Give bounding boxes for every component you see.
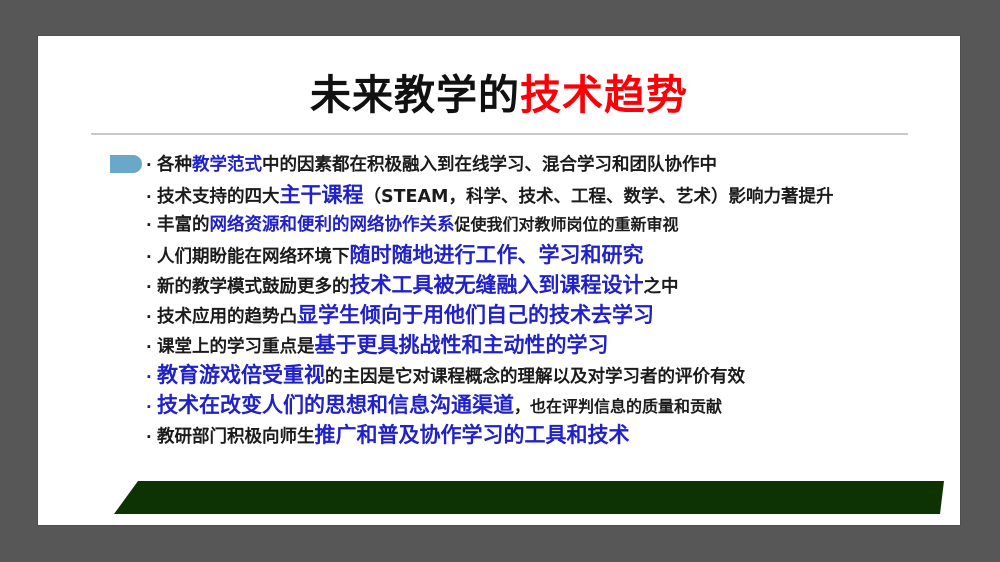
bullet-text-segment: 技术应用的趋势凸	[157, 307, 297, 327]
bullet-text-segment: 促使我们对教师岗位的重新审视	[455, 215, 679, 234]
bullet-dot-icon: ·	[146, 150, 157, 180]
bullet-text-segment: （STEAM，科学、技术、工程、数学、艺术）影响力著提升	[364, 187, 834, 207]
bullet-text-segment: 丰富的	[157, 215, 210, 235]
bullet-text-segment: 基于更具挑战性和主动性的学习	[315, 333, 609, 357]
bullet-dot-icon: ·	[146, 242, 157, 272]
bullet-text-segment: 新的教学模式鼓励更多的	[157, 277, 350, 297]
bullet-dot-icon: ·	[146, 362, 157, 392]
bullet-dot-icon: ·	[146, 210, 157, 240]
bullet-item: ·技术应用的趋势凸显学生倾向于用他们自己的技术去学习	[146, 300, 936, 330]
bullet-text-segment: 技术工具被无缝融入到课程设计	[350, 273, 644, 297]
bullet-text-segment: 教学范式	[192, 155, 262, 175]
bullet-item: ·教研部门积极向师生推广和普及协作学习的工具和技术	[146, 420, 936, 450]
bullet-text-segment: 网络资源和便利的网络协作关系	[210, 215, 455, 235]
bullet-dot-icon: ·	[146, 302, 157, 332]
bullet-text-segment: 显学生倾向于用他们自己的技术去学习	[297, 303, 654, 327]
bullet-text-segment: 之中	[644, 277, 679, 297]
bullet-item: ·人们期盼能在网络环境下随时随地进行工作、学习和研究	[146, 240, 936, 270]
title-dark-part: 未来教学的	[310, 71, 520, 119]
slide-title: 未来教学的技术趋势	[38, 74, 960, 117]
blue-flag-marker-icon	[110, 155, 142, 173]
bullet-text-segment: 推广和普及协作学习的工具和技术	[315, 423, 630, 447]
bullet-item: ·技术在改变人们的思想和信息沟通渠道，也在评判信息的质量和贡献	[146, 390, 936, 420]
bullet-text-segment: 技术支持的四大	[157, 187, 280, 207]
bullet-dot-icon: ·	[146, 422, 157, 452]
bullet-item: ·丰富的网络资源和便利的网络协作关系促使我们对教师岗位的重新审视	[146, 210, 936, 240]
title-divider	[91, 133, 908, 135]
bullet-text-segment: 中的因素都在积极融入到在线学习、混合学习和团队协作中	[262, 155, 717, 175]
bullet-text-segment: ，也在评判信息的质量和贡献	[514, 397, 722, 416]
bullet-text-segment: 随时随地进行工作、学习和研究	[350, 243, 644, 267]
title-accent-part: 技术趋势	[520, 71, 688, 119]
slide-viewer: 未来教学的技术趋势 ·各种教学范式中的因素都在积极融入到在线学习、混合学习和团队…	[0, 0, 1000, 562]
bullet-list: ·各种教学范式中的因素都在积极融入到在线学习、混合学习和团队协作中·技术支持的四…	[146, 150, 936, 450]
bullet-text-segment: 人们期盼能在网络环境下	[157, 247, 350, 267]
bullet-dot-icon: ·	[146, 272, 157, 302]
bullet-item: ·技术支持的四大主干课程（STEAM，科学、技术、工程、数学、艺术）影响力著提升	[146, 180, 936, 210]
bullet-text-segment: 教育游戏倍受重视	[157, 363, 325, 387]
bullet-item: ·教育游戏倍受重视的主因是它对课程概念的理解以及对学习者的评价有效	[146, 360, 936, 390]
bullet-text-segment: 各种	[157, 155, 192, 175]
bullet-dot-icon: ·	[146, 392, 157, 422]
bullet-item: ·新的教学模式鼓励更多的技术工具被无缝融入到课程设计之中	[146, 270, 936, 300]
bullet-item: ·课堂上的学习重点是基于更具挑战性和主动性的学习	[146, 330, 936, 360]
bullet-item: ·各种教学范式中的因素都在积极融入到在线学习、混合学习和团队协作中	[146, 150, 936, 180]
bullet-dot-icon: ·	[146, 182, 157, 212]
bottom-green-banner	[114, 481, 944, 514]
bullet-text-segment: 教研部门积极向师生	[157, 427, 315, 447]
bullet-text-segment: 主干课程	[280, 183, 364, 207]
bullet-dot-icon: ·	[146, 332, 157, 362]
bullet-text-segment: 的主因是它对课程概念的理解以及对学习者的评价有效	[325, 367, 745, 387]
bullet-text-segment: 技术在改变人们的思想和信息沟通渠道	[157, 393, 514, 417]
slide-canvas: 未来教学的技术趋势 ·各种教学范式中的因素都在积极融入到在线学习、混合学习和团队…	[38, 36, 960, 525]
bullet-text-segment: 课堂上的学习重点是	[157, 337, 315, 357]
